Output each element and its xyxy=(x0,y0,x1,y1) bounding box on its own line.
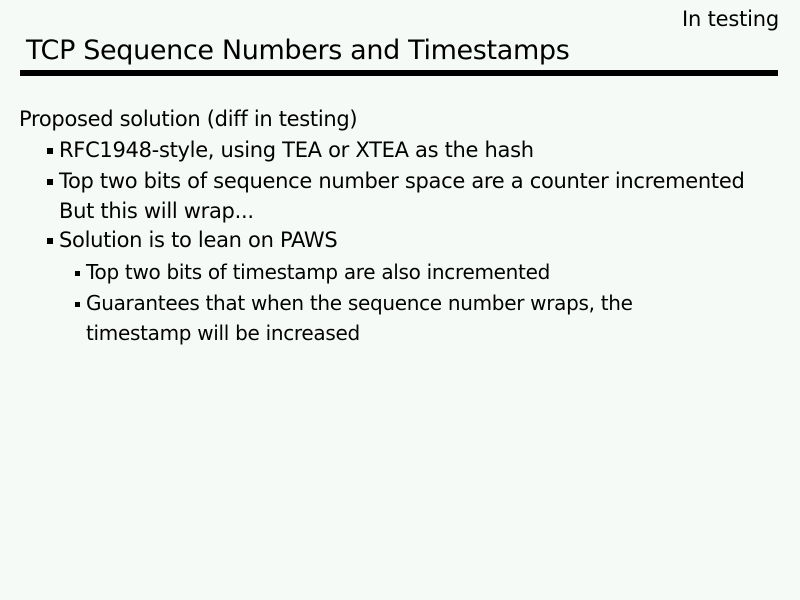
bullet-item-continuation: But this will wrap... xyxy=(59,197,800,225)
bullet-item-level2: Guarantees that when the sequence number… xyxy=(86,288,800,319)
slide-body: Proposed solution (diff in testing) RFC1… xyxy=(0,104,800,348)
bullet-item-label: Top two bits of sequence number space ar… xyxy=(59,169,744,193)
title-underline-rule xyxy=(20,70,778,76)
bullet-item-continuation: timestamp will be increased xyxy=(86,319,800,348)
bullet-item-level1: Solution is to lean on PAWS xyxy=(59,225,800,256)
slide-title: TCP Sequence Numbers and Timestamps xyxy=(26,34,569,68)
bullet-item-label: But this will wrap... xyxy=(59,199,254,223)
presentation-slide: In testing TCP Sequence Numbers and Time… xyxy=(0,0,800,600)
body-line-text: Proposed solution (diff in testing) xyxy=(19,107,357,131)
square-bullet-icon xyxy=(47,179,53,185)
square-bullet-icon xyxy=(75,302,80,307)
bullet-item-level1: RFC1948-style, using TEA or XTEA as the … xyxy=(59,135,800,166)
bullet-item-label: Solution is to lean on PAWS xyxy=(59,228,337,252)
bullet-item-label: Guarantees that when the sequence number… xyxy=(86,291,633,315)
square-bullet-icon xyxy=(47,238,53,244)
bullet-item-label: timestamp will be increased xyxy=(86,321,360,345)
bullet-item-label: Top two bits of timestamp are also incre… xyxy=(86,260,550,284)
bullet-item-level1: Top two bits of sequence number space ar… xyxy=(59,166,800,197)
bullet-item-level2: Top two bits of timestamp are also incre… xyxy=(86,257,800,288)
bullet-item-label: RFC1948-style, using TEA or XTEA as the … xyxy=(59,138,534,162)
body-line: Proposed solution (diff in testing) xyxy=(19,104,800,135)
square-bullet-icon xyxy=(75,271,80,276)
square-bullet-icon xyxy=(47,148,53,154)
slide-status-note: In testing xyxy=(682,6,779,32)
